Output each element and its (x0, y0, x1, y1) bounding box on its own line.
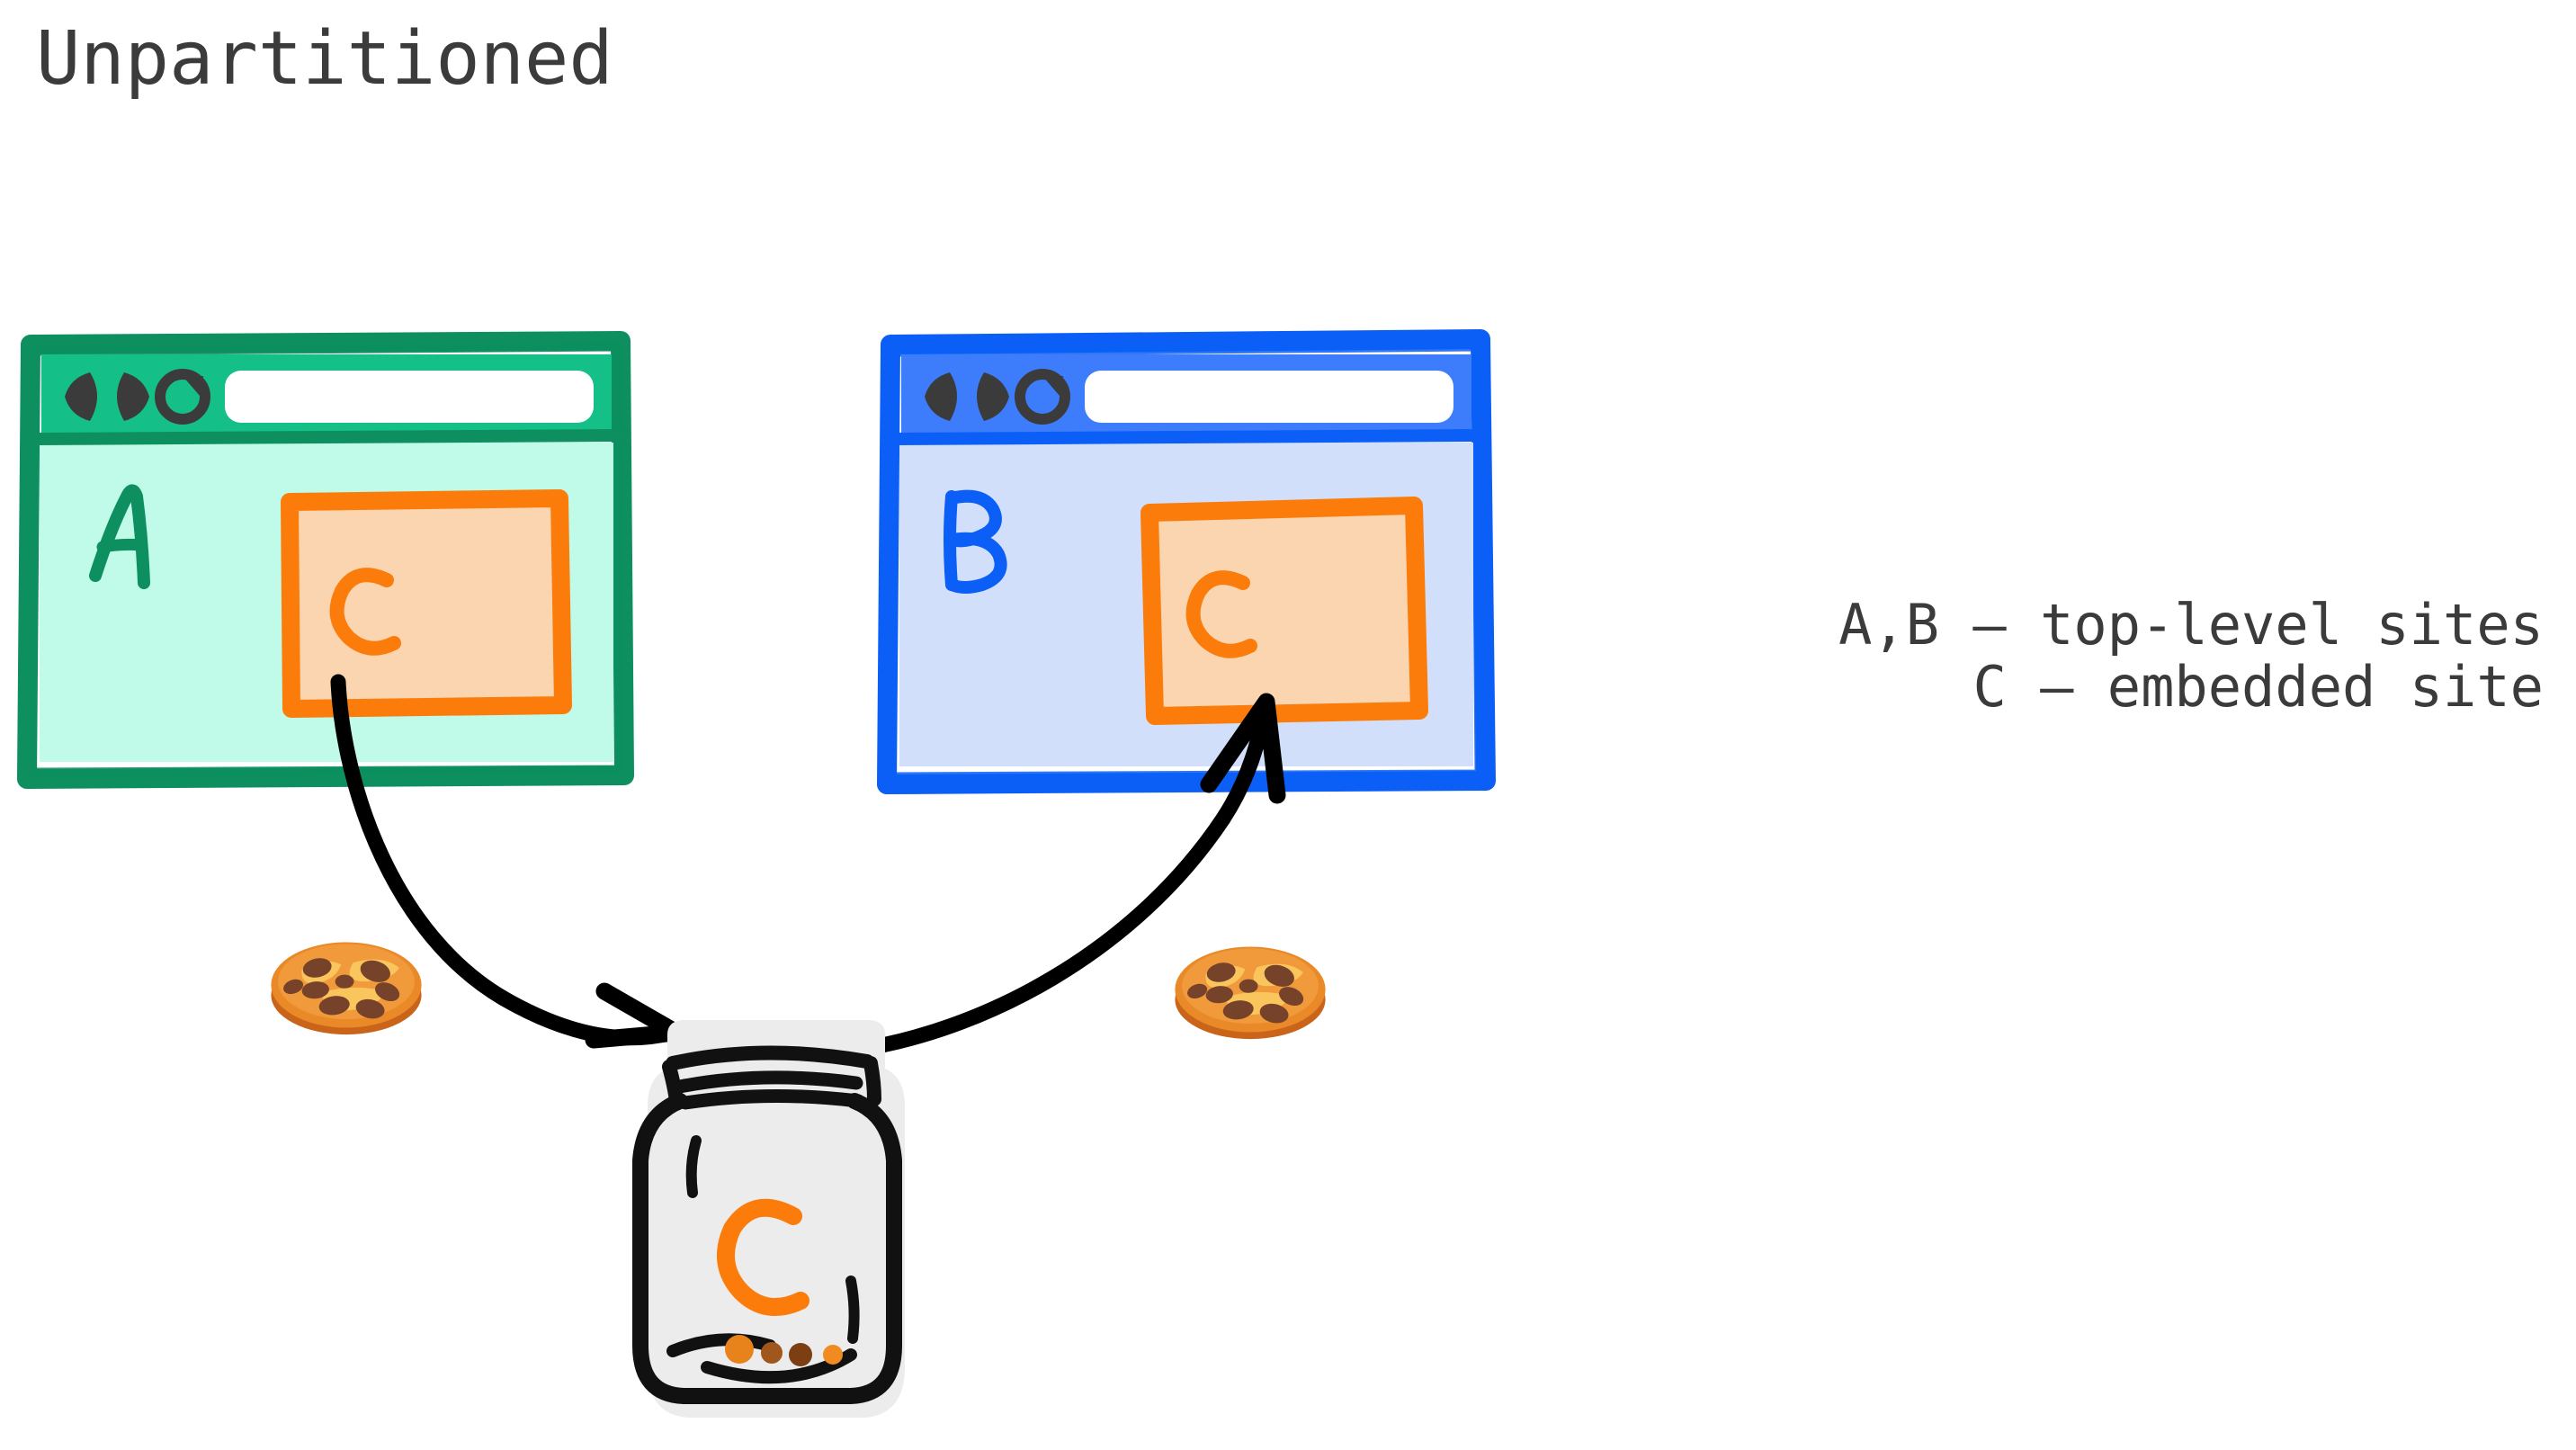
cookie-right (1175, 947, 1325, 1040)
jar-highlight-left (692, 1141, 696, 1193)
jar-crumb (789, 1343, 812, 1366)
jar-neck-right (871, 1063, 874, 1099)
jar-shoulder-line (685, 1096, 858, 1103)
jar-crumb (761, 1342, 783, 1364)
window-a-toolbar-divider (36, 435, 619, 439)
window-a-url-bar[interactable] (225, 371, 594, 423)
diagram-canvas (0, 0, 2576, 1450)
cookie-left (271, 943, 421, 1035)
jar-crumb (823, 1345, 843, 1365)
window-b-toolbar-divider (896, 435, 1479, 439)
jar-crumb (725, 1335, 754, 1364)
window-b-embedded-site-c[interactable] (1149, 506, 1419, 716)
cookie-jar[interactable] (640, 1020, 905, 1418)
browser-window-b[interactable] (887, 339, 1486, 784)
window-a-embedded-site-c[interactable] (290, 498, 563, 709)
browser-window-a[interactable] (27, 341, 624, 779)
jar-highlight-right (851, 1281, 854, 1338)
window-b-url-bar[interactable] (1085, 371, 1453, 423)
